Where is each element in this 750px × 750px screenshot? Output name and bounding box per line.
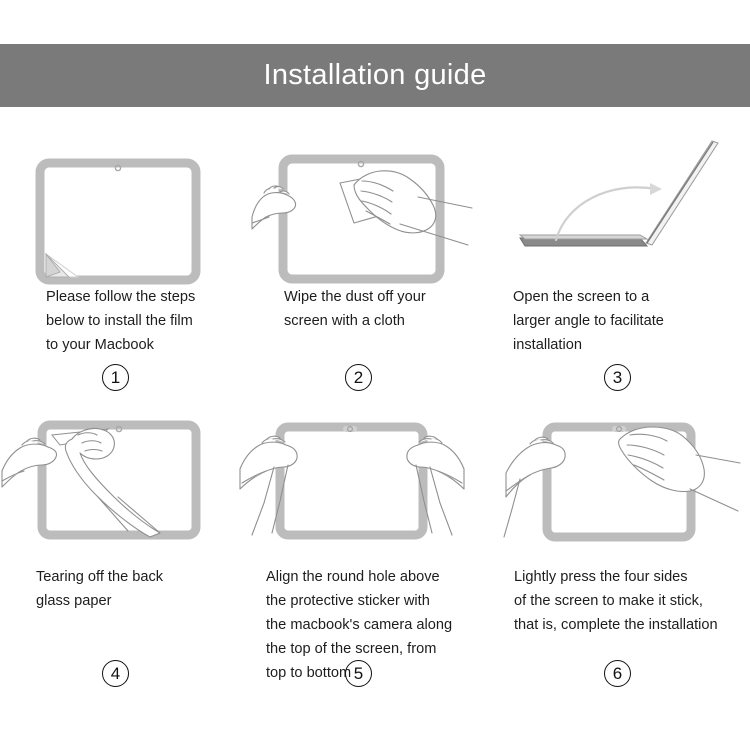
step-1-illustration xyxy=(0,125,250,275)
step-1-caption: Please follow the steps below to install… xyxy=(46,285,236,357)
step-6-illustration xyxy=(500,405,750,555)
step-4-illustration xyxy=(0,405,250,555)
installation-guide-page: Installation guide xyxy=(0,0,750,750)
step-6-caption: Lightly press the four sides of the scre… xyxy=(514,565,746,637)
steps-grid: Please follow the steps below to install… xyxy=(0,125,750,725)
step-card-6: Lightly press the four sides of the scre… xyxy=(500,405,750,690)
step-3-illustration xyxy=(500,125,750,275)
step-2-caption: Wipe the dust off your screen with a clo… xyxy=(284,285,494,333)
hands-peeling-backing-paper-icon xyxy=(2,425,196,537)
step-5-caption: Align the round hole above the protectiv… xyxy=(266,565,481,685)
step-card-2: Wipe the dust off your screen with a clo… xyxy=(250,125,500,405)
page-title: Installation guide xyxy=(263,61,486,90)
step-3-caption: Open the screen to a larger angle to fac… xyxy=(513,285,728,357)
hand-wiping-screen-with-cloth-icon xyxy=(252,159,472,279)
step-2-illustration xyxy=(250,125,500,275)
step-number-badge-6: 6 xyxy=(604,660,631,687)
step-5-illustration xyxy=(250,405,500,555)
step-card-4: Tearing off the back glass paper 4 xyxy=(0,405,250,690)
step-number-badge-1: 1 xyxy=(102,364,129,391)
step-card-1: Please follow the steps below to install… xyxy=(0,125,250,405)
step-card-5: Align the round hole above the protectiv… xyxy=(250,405,500,690)
step-4-caption: Tearing off the back glass paper xyxy=(36,565,236,613)
header-banner: Installation guide xyxy=(0,44,750,107)
laptop-open-angle-icon xyxy=(520,141,718,246)
step-number-badge-2: 2 xyxy=(345,364,372,391)
two-hands-aligning-film-icon xyxy=(240,426,464,535)
step-card-3: Open the screen to a larger angle to fac… xyxy=(500,125,750,405)
step-number-badge-4: 4 xyxy=(102,660,129,687)
screen-with-peeling-film-corner-icon xyxy=(40,163,196,280)
step-number-badge-5: 5 xyxy=(345,660,372,687)
step-number-badge-3: 3 xyxy=(604,364,631,391)
hand-pressing-screen-icon xyxy=(504,426,740,537)
